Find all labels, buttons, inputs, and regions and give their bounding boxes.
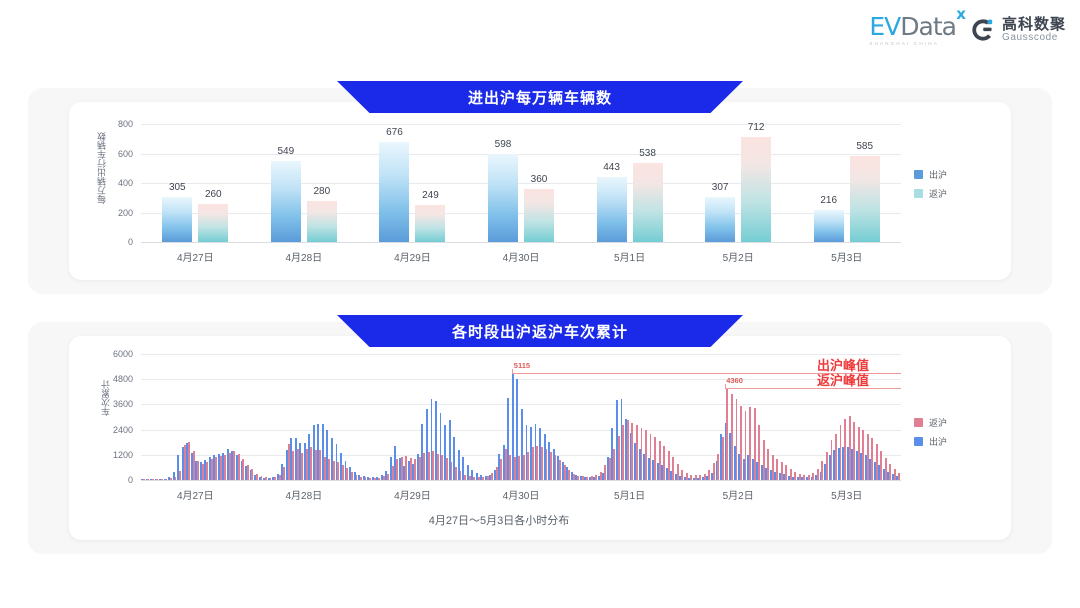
hourly-bar-ret [451, 462, 453, 480]
hourly-bar-ret [455, 467, 457, 480]
hourly-bar-ret [220, 456, 222, 480]
hourly-bar-ret [808, 475, 810, 480]
gridline [141, 154, 901, 155]
hourly-bar-ret [202, 464, 204, 480]
legend-swatch-返沪 [914, 189, 923, 198]
hourly-bar-ret [763, 440, 765, 480]
bar-value-label: 443 [603, 162, 620, 173]
y-axis-label: 车次累计 [99, 380, 112, 416]
hourly-bar-ret [464, 475, 466, 480]
hourly-bar-ret [337, 462, 339, 480]
hourly-bar-ret [858, 427, 860, 480]
hourly-bar-ret [831, 440, 833, 480]
hourly-bar-ret [550, 452, 552, 480]
hourly-bar-ret [414, 459, 416, 480]
hourly-bar-ret [197, 461, 199, 480]
x-axis-tick: 4月29日 [394, 487, 431, 502]
legend-swatch-出沪 [914, 170, 923, 179]
hourly-bar-ret [365, 477, 367, 480]
hourly-bar-ret [256, 474, 258, 480]
hourly-bar-ret [609, 458, 611, 480]
legend-label: 出沪 [929, 435, 947, 448]
hourly-bar-ret [460, 471, 462, 480]
hourly-bar-ret [301, 453, 303, 480]
legend-label: 返沪 [929, 416, 947, 429]
hourly-bar-ret [898, 473, 900, 480]
hourly-bar-ret [604, 465, 606, 480]
hourly-bar-ret [849, 416, 851, 480]
hourly-bar-ret [473, 477, 475, 480]
x-axis-tick: 4月27日 [177, 487, 214, 502]
panel-hourly-cumulative-card: 012002400360048006000车次累计4月27日4月28日4月29日… [69, 336, 1011, 540]
hourly-bar-ret [360, 477, 362, 480]
hourly-bar-ret [663, 446, 665, 480]
x-axis-tick: 5月3日 [831, 487, 862, 502]
hourly-bar-ret [514, 457, 516, 480]
hourly-bar-ret [568, 470, 570, 480]
y-axis-tick: 0 [128, 475, 133, 485]
hourly-bar-ret [613, 449, 615, 481]
hourly-bar-ret [432, 451, 434, 480]
hourly-bar-ret [446, 458, 448, 480]
hourly-bar-ret [749, 407, 751, 481]
hourly-bar-ret [229, 453, 231, 480]
hourly-bar-ret [803, 475, 805, 480]
hourly-bar-ret [844, 419, 846, 480]
gridline [141, 354, 901, 355]
hourly-bar-ret [668, 451, 670, 480]
hourly-bar-ret [840, 425, 842, 480]
x-axis-tick: 5月3日 [831, 249, 862, 264]
bar-返沪-5月2日 [741, 137, 771, 242]
gridline [141, 124, 901, 125]
hourly-bar-ret [708, 470, 710, 480]
hourly-bar-ret [586, 477, 588, 480]
y-axis-tick: 400 [118, 178, 133, 188]
hourly-bar-ret [645, 430, 647, 480]
bar-value-label: 538 [639, 148, 656, 159]
bar-value-label: 712 [748, 122, 765, 133]
hourly-bar-ret [152, 479, 154, 480]
hourly-bar-ret [785, 465, 787, 480]
hourly-bar-ret [333, 461, 335, 480]
hourly-bar-ret [523, 455, 525, 480]
bar-返沪-4月30日 [524, 189, 554, 242]
hourly-bar-ret [776, 459, 778, 480]
x-axis-tick: 4月27日 [177, 249, 214, 264]
hourly-bar-ret [378, 478, 380, 480]
hourly-bar-ret [188, 442, 190, 480]
gausscode-mark-icon [970, 17, 996, 43]
hourly-bar-ret [383, 476, 385, 480]
hourly-bar-ret [419, 457, 421, 480]
evdata-prefix: EV [869, 12, 900, 41]
hourly-bar-ret [876, 444, 878, 480]
hourly-bar-ret [821, 461, 823, 480]
hourly-bar-ret [288, 444, 290, 480]
hourly-bar-ret [541, 447, 543, 480]
hourly-bar-ret [826, 452, 828, 480]
hourly-bar-ret [387, 474, 389, 480]
hourly-bar-ret [482, 477, 484, 480]
y-axis-tick: 3600 [113, 399, 133, 409]
peak-tick-出沪峰值 [512, 369, 513, 373]
hourly-bar-ret [215, 457, 217, 480]
x-axis-tick: 4月30日 [503, 487, 540, 502]
hourly-bar-ret [437, 454, 439, 480]
hourly-bar-ret [889, 464, 891, 480]
hourly-bar-ret [536, 446, 538, 480]
bar-value-label: 598 [495, 139, 512, 150]
gridline [141, 183, 901, 184]
hourly-bar-ret [270, 478, 272, 480]
hourly-bar-ret [374, 478, 376, 480]
hourly-bar-ret [518, 456, 520, 480]
hourly-bar-ret [867, 434, 869, 480]
hourly-bar-ret [618, 436, 620, 480]
x-axis-tick: 4月28日 [286, 487, 323, 502]
bar-返沪-4月27日 [198, 204, 228, 242]
gausscode-text: 高科数聚 Gausscode [1002, 17, 1066, 44]
hourly-bar-ret [704, 474, 706, 480]
bar-返沪-4月28日 [307, 201, 337, 242]
hourly-bar-ret [699, 475, 701, 480]
hourly-bar-ret [686, 473, 688, 480]
hourly-bar-ret [251, 469, 253, 480]
y-axis-tick: 0 [128, 237, 133, 247]
y-axis-tick: 800 [118, 119, 133, 129]
hourly-bar-ret [487, 476, 489, 480]
evdata-suffix: Data [900, 12, 956, 41]
hourly-bar-ret [441, 455, 443, 480]
panel-daily-volume: 0200400600800每万辆出行车辆数3052604月27日5492804月… [28, 88, 1052, 294]
hourly-bar-ret [758, 425, 760, 480]
hourly-bar-ret [740, 406, 742, 480]
hourly-bar-ret [392, 466, 394, 480]
y-axis-tick: 6000 [113, 349, 133, 359]
x-axis-tick: 5月2日 [723, 249, 754, 264]
hourly-bar-ret [500, 459, 502, 480]
hourly-bar-ret [582, 476, 584, 480]
hourly-bar-ret [184, 445, 186, 480]
hourly-bar-ret [265, 477, 267, 480]
chart-hourly-cumulative-title: 各时段出沪返沪车次累计 [337, 315, 743, 347]
y-axis-tick: 600 [118, 149, 133, 159]
evdata-superscript: x [956, 7, 965, 22]
hourly-bar-ret [242, 459, 244, 480]
hourly-bar-ret [233, 451, 235, 480]
hourly-bar-ret [880, 451, 882, 480]
brand-header: EVData x SHANGHAI CHINA 高科数聚 Gausscode [869, 14, 1066, 46]
hourly-bar-ret [369, 478, 371, 480]
hourly-bar-ret [428, 452, 430, 480]
hourly-bar-ret [279, 475, 281, 480]
hourly-bar-ret [817, 469, 819, 480]
hourly-bar-ret [835, 434, 837, 480]
hourly-bar-ret [401, 457, 403, 480]
bar-value-label: 585 [856, 141, 873, 152]
legend-swatch-返沪 [914, 418, 923, 427]
hourly-bar-ret [745, 411, 747, 480]
bar-value-label: 307 [712, 182, 729, 193]
hourly-bar-ret [726, 388, 728, 480]
hourly-bar-ret [862, 430, 864, 480]
hourly-bar-ret [690, 475, 692, 480]
bar-value-label: 216 [820, 195, 837, 206]
chart-hourly-cumulative-plot: 012002400360048006000车次累计4月27日4月28日4月29日… [141, 354, 901, 480]
hourly-bar-ret [672, 457, 674, 480]
hourly-bar-ret [591, 476, 593, 480]
gausscode-logo: 高科数聚 Gausscode [970, 17, 1066, 44]
legend-item-返沪: 返沪 [914, 187, 947, 200]
peak-label-返沪峰值: 返沪峰值 [817, 370, 869, 389]
bar-出沪-4月29日 [379, 142, 409, 242]
hourly-bar-ret [161, 479, 163, 480]
hourly-bar-ret [292, 451, 294, 480]
legend-item-出沪: 出沪 [914, 435, 947, 448]
legend-label: 出沪 [929, 168, 947, 181]
hourly-bar-ret [496, 467, 498, 480]
x-axis-tick: 4月28日 [286, 249, 323, 264]
hourly-bar-ret [224, 455, 226, 480]
chart-daily-volume-title: 进出沪每万辆车辆数 [337, 81, 743, 113]
hourly-bar-ret [405, 456, 407, 480]
evdata-tagline: SHANGHAI CHINA [869, 41, 939, 46]
bar-出沪-5月1日 [597, 177, 627, 242]
hourly-bar-ret [211, 459, 213, 480]
bar-value-label: 280 [314, 186, 331, 197]
hourly-bar-ret [627, 420, 629, 480]
hourly-bar-ret [310, 447, 312, 480]
hourly-bar-ret [283, 467, 285, 480]
hourly-bar-ret [871, 438, 873, 480]
hourly-bar-ret [346, 468, 348, 480]
hourly-bar-ret [396, 459, 398, 480]
hourly-bar-ret [564, 465, 566, 480]
hourly-bar-ret [622, 425, 624, 480]
hourly-bar-ret [794, 472, 796, 480]
legend-item-返沪: 返沪 [914, 416, 947, 429]
x-axis-tick: 5月1日 [614, 487, 645, 502]
hourly-bar-ret [328, 459, 330, 480]
y-axis-tick: 2400 [113, 425, 133, 435]
evdata-wordmark: EVData x [869, 14, 956, 39]
hourly-bar-ret [659, 441, 661, 480]
hourly-bar-ret [342, 465, 344, 480]
bar-value-label: 260 [205, 189, 222, 200]
y-axis-tick: 1200 [113, 450, 133, 460]
panel-daily-volume-card: 0200400600800每万辆出行车辆数3052604月27日5492804月… [69, 102, 1011, 280]
hourly-bar-ret [156, 479, 158, 480]
hourly-bar-ret [532, 447, 534, 480]
gridline [141, 379, 901, 380]
bar-出沪-4月30日 [488, 154, 518, 242]
hourly-bar-ret [410, 458, 412, 480]
chart-daily-volume-legend: 出沪返沪 [914, 168, 947, 200]
peak-line-返沪峰值 [725, 388, 901, 389]
bar-出沪-5月3日 [814, 210, 844, 242]
bar-value-label: 676 [386, 127, 403, 138]
evdata-logo: EVData x SHANGHAI CHINA [869, 14, 956, 46]
hourly-bar-ret [894, 469, 896, 480]
hourly-bar-ret [478, 477, 480, 480]
x-axis-tick: 5月2日 [723, 487, 754, 502]
legend-label: 返沪 [929, 187, 947, 200]
hourly-bar-ret [885, 458, 887, 480]
hourly-bar-ret [812, 473, 814, 480]
x-axis-line [141, 480, 901, 481]
hourly-bar-ret [799, 474, 801, 480]
hourly-bar-ret [193, 451, 195, 480]
peak-value-返沪峰值: 4360 [726, 376, 743, 385]
hourly-bar-ret [319, 450, 321, 480]
bar-value-label: 549 [278, 146, 295, 157]
x-axis-tick: 4月29日 [394, 249, 431, 264]
hourly-bar-ret [853, 422, 855, 480]
hourly-bar-ret [261, 476, 263, 480]
legend-item-出沪: 出沪 [914, 168, 947, 181]
bar-返沪-5月3日 [850, 156, 880, 242]
hourly-bar-ret [206, 462, 208, 480]
hourly-bar-ret [677, 464, 679, 480]
gridline [141, 213, 901, 214]
hourly-bar-ret [650, 434, 652, 480]
hourly-bar-ret [297, 449, 299, 481]
hourly-bar-ret [527, 452, 529, 480]
hourly-bar-ret [713, 463, 715, 480]
hourly-bar-ret [166, 479, 168, 480]
peak-value-出沪峰值: 5115 [514, 361, 530, 370]
hourly-bar-ret [505, 449, 507, 480]
hourly-bar-ret [306, 449, 308, 480]
gridline [141, 404, 901, 405]
hourly-bar-ret [324, 457, 326, 480]
bar-value-label: 360 [531, 174, 548, 185]
hourly-bar-ret [654, 437, 656, 480]
hourly-bar-ret [754, 408, 756, 480]
bar-value-label: 305 [169, 182, 186, 193]
panel-hourly-cumulative: 012002400360048006000车次累计4月27日4月28日4月29日… [28, 322, 1052, 554]
hourly-bar-ret [509, 455, 511, 480]
hourly-bar-ret [600, 472, 602, 480]
x-axis-tick: 4月30日 [503, 249, 540, 264]
hourly-bar-ret [274, 477, 276, 480]
hourly-bar-ret [423, 453, 425, 480]
y-axis-tick: 4800 [113, 374, 133, 384]
x-axis-tick: 5月1日 [614, 249, 645, 264]
hourly-bar-ret [175, 477, 177, 480]
hourly-bar-ret [491, 473, 493, 480]
hourly-bar-ret [772, 455, 774, 480]
bar-出沪-4月28日 [271, 161, 301, 242]
hourly-bar-ret [636, 425, 638, 480]
hourly-bar-ret [595, 475, 597, 480]
hourly-bar-ret [767, 449, 769, 480]
chart-daily-volume-plot: 0200400600800每万辆出行车辆数3052604月27日5492804月… [141, 124, 901, 242]
chart-hourly-cumulative-caption: 4月27日～5月3日各小时分布 [429, 512, 570, 528]
hourly-bar-ret [573, 474, 575, 480]
hourly-bar-ret [555, 455, 557, 480]
legend-swatch-出沪 [914, 437, 923, 446]
hourly-bar-ret [717, 454, 719, 480]
hourly-bar-ret [681, 470, 683, 481]
hourly-bar-ret [147, 479, 149, 480]
hourly-bar-ret [546, 449, 548, 480]
hourly-bar-ret [641, 428, 643, 481]
hourly-bar-ret [351, 472, 353, 480]
y-axis-label: 每万辆出行车辆数 [95, 132, 108, 204]
x-axis-line [141, 242, 901, 243]
hourly-bar-ret [577, 476, 579, 480]
hourly-bar-ret [722, 437, 724, 480]
hourly-bar-ret [695, 475, 697, 480]
hourly-bar-ret [179, 471, 181, 480]
bar-返沪-5月1日 [633, 163, 663, 242]
hourly-bar-ret [736, 399, 738, 480]
hourly-bar-ret [356, 475, 358, 480]
hourly-bar-ret [790, 469, 792, 480]
hourly-bar-ret [247, 465, 249, 480]
hourly-bar-ret [170, 478, 172, 480]
bar-返沪-4月29日 [415, 205, 445, 242]
gausscode-en: Gausscode [1002, 33, 1066, 44]
bar-出沪-4月27日 [162, 197, 192, 242]
y-axis-tick: 200 [118, 208, 133, 218]
hourly-bar-ret [315, 450, 317, 480]
bar-出沪-5月2日 [705, 197, 735, 242]
hourly-bar-ret [631, 423, 633, 480]
hourly-bar-ret [469, 476, 471, 480]
hourly-bar-ret [731, 394, 733, 480]
hourly-bar-ret [781, 462, 783, 480]
hourly-bar-ret [143, 479, 145, 480]
hourly-bar-ret [559, 460, 561, 480]
hourly-bar-ret [238, 454, 240, 480]
bar-value-label: 249 [422, 190, 439, 201]
chart-hourly-cumulative-legend: 返沪出沪 [914, 416, 947, 448]
gausscode-cn: 高科数聚 [1002, 17, 1066, 33]
